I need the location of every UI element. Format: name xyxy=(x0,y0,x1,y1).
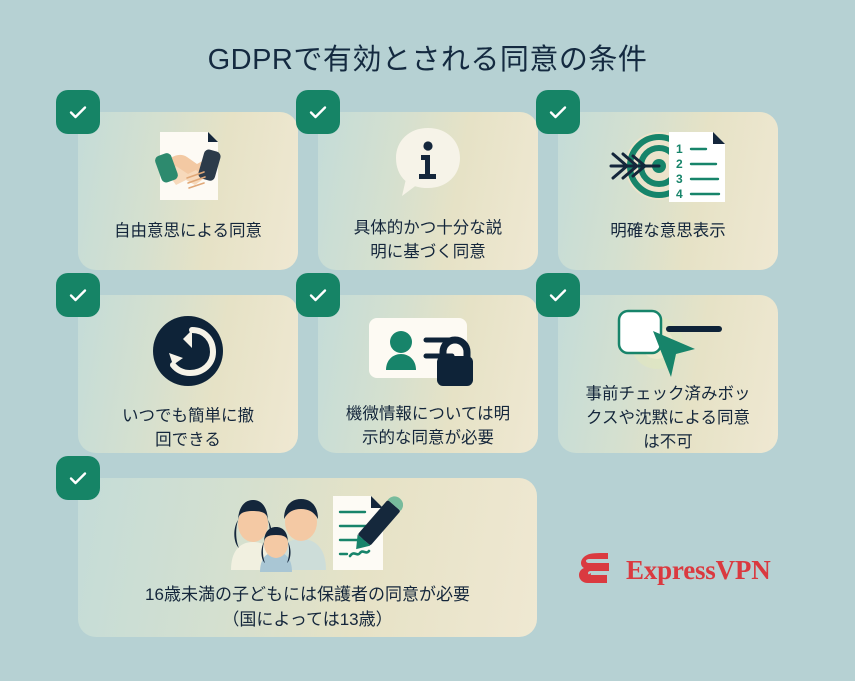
card-surface: 機微情報については明 示的な同意が必要 xyxy=(318,295,538,453)
card-free-consent: 自由意思による同意 xyxy=(78,112,298,270)
list-number-3: 3 xyxy=(676,172,683,186)
undo-arrow-icon xyxy=(78,309,298,393)
card-sensitive-data: 機微情報については明 示的な同意が必要 xyxy=(318,295,538,453)
family-signature-icon xyxy=(78,492,537,572)
check-badge-icon xyxy=(56,273,100,317)
card-surface: 具体的かつ十分な説 明に基づく同意 xyxy=(318,112,538,270)
card-surface: 1 2 3 4 明確な意思表示 xyxy=(558,112,778,270)
info-speech-bubble-icon xyxy=(318,122,538,206)
id-card-lock-icon xyxy=(318,309,538,391)
card-clear-indication: 1 2 3 4 明確な意思表示 xyxy=(558,112,778,270)
check-badge-icon xyxy=(296,90,340,134)
card-surface: 16歳未満の子どもには保護者の同意が必要 （国によっては13歳） xyxy=(78,478,537,637)
card-label: 自由意思による同意 xyxy=(90,220,286,244)
card-no-pre-ticked-boxes: 事前チェック済みボッ クスや沈黙による同意 は不可 xyxy=(558,295,778,453)
card-informed-consent: 具体的かつ十分な説 明に基づく同意 xyxy=(318,112,538,270)
card-label: 事前チェック済みボッ クスや沈黙による同意 は不可 xyxy=(570,383,766,453)
check-badge-icon xyxy=(56,456,100,500)
check-badge-icon xyxy=(56,90,100,134)
check-badge-icon xyxy=(536,90,580,134)
checkbox-cursor-icon xyxy=(558,303,778,385)
expressvpn-wordmark: ExpressVPN xyxy=(626,555,771,586)
card-surface: 事前チェック済みボッ クスや沈黙による同意 は不可 xyxy=(558,295,778,453)
page-title: GDPRで有効とされる同意の条件 xyxy=(0,36,855,78)
card-label: 16歳未満の子どもには保護者の同意が必要 （国によっては13歳） xyxy=(90,583,525,632)
handshake-icon xyxy=(78,126,298,206)
card-surface: いつでも簡単に撤 回できる xyxy=(78,295,298,453)
list-number-2: 2 xyxy=(676,157,683,171)
list-number-1: 1 xyxy=(676,142,683,156)
expressvpn-logo[interactable]: ExpressVPN xyxy=(578,549,771,592)
card-surface: 自由意思による同意 xyxy=(78,112,298,270)
list-number-4: 4 xyxy=(676,187,683,201)
card-label: 具体的かつ十分な説 明に基づく同意 xyxy=(330,217,526,265)
check-badge-icon xyxy=(536,273,580,317)
target-checklist-icon: 1 2 3 4 xyxy=(558,126,778,208)
check-badge-icon xyxy=(296,273,340,317)
card-label: 明確な意思表示 xyxy=(570,220,766,244)
card-withdraw-consent: いつでも簡単に撤 回できる xyxy=(78,295,298,453)
expressvpn-e-mark-icon xyxy=(578,549,614,592)
card-label: いつでも簡単に撤 回できる xyxy=(90,405,286,453)
card-label: 機微情報については明 示的な同意が必要 xyxy=(330,403,526,451)
card-parental-consent: 16歳未満の子どもには保護者の同意が必要 （国によっては13歳） xyxy=(78,478,537,637)
